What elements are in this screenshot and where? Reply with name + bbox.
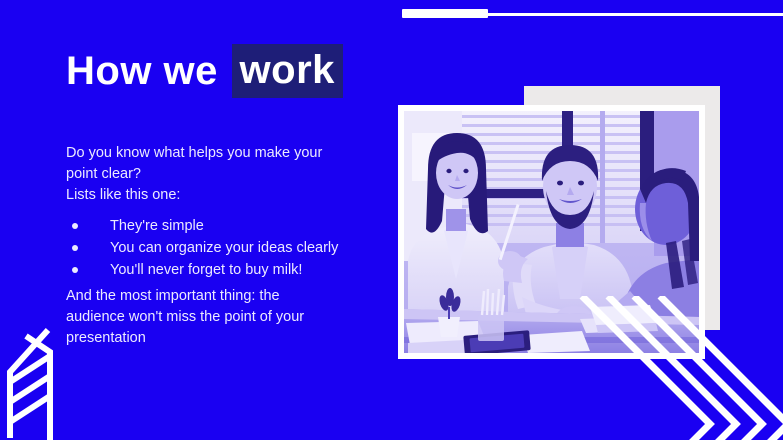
list-item: You'll never forget to buy milk!	[66, 259, 338, 281]
feature-bullet-list: They're simple You can organize your ide…	[66, 215, 338, 281]
slide-canvas: How we work Do you know what helps you m…	[0, 0, 783, 440]
list-item: They're simple	[66, 215, 338, 237]
top-rule-thick-decoration	[402, 9, 488, 18]
intro-paragraph: Do you know what helps you make your poi…	[66, 143, 396, 206]
chevron-stripes-decoration	[560, 296, 783, 440]
top-rule-thin-decoration	[486, 13, 783, 16]
page-title: How we work	[66, 44, 343, 98]
page-title-plain: How we	[66, 48, 230, 94]
ladder-zigzag-decoration	[4, 310, 70, 440]
page-title-highlight: work	[232, 44, 343, 98]
outro-paragraph: And the most important thing: the audien…	[66, 286, 366, 349]
list-item: You can organize your ideas clearly	[66, 237, 338, 259]
